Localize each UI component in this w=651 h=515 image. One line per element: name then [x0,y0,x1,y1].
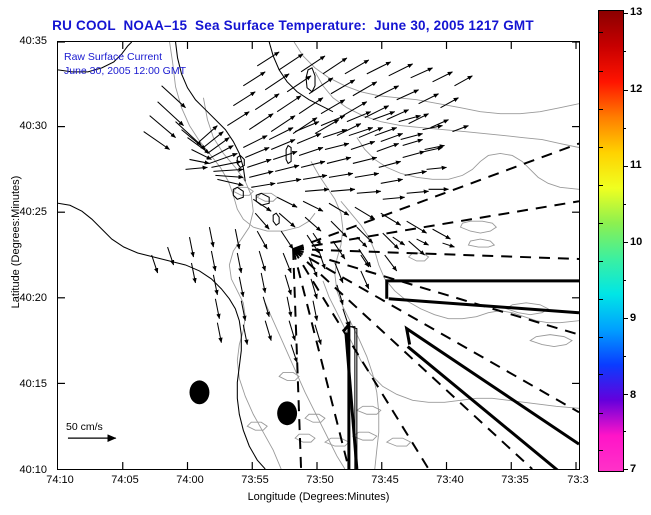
axis-tick-marks [58,42,579,469]
y-tick-label: 40:35 [19,35,47,47]
x-tick-label: 73:55 [241,474,269,486]
colorbar-tick-label: 11 [630,159,642,171]
radial-bearing-lines [293,144,579,469]
y-tick-label: 40:15 [19,378,47,390]
y-axis-ticks: 40:35 40:30 40:25 40:20 40:15 40:10 [0,0,53,515]
x-tick-label: 74:10 [46,474,74,486]
x-tick-label: 73:35 [501,474,529,486]
x-axis-title: Longitude (Degrees:Minutes) [57,491,580,503]
y-tick-label: 40:30 [19,120,47,132]
station-markers[interactable] [189,380,297,425]
x-tick-label: 73:45 [371,474,399,486]
station-marker[interactable] [277,401,297,425]
colorbar-tick-label: 8 [630,389,636,401]
sst-contour-lines [170,42,579,469]
map-plot-area[interactable]: Raw Surface CurrentJune 30, 2005 12:00 G… [57,41,580,470]
page-title: RU COOL NOAA–15 Sea Surface Temperature:… [0,18,586,33]
y-tick-label: 40:20 [19,292,47,304]
map-canvas [58,42,579,469]
colorbar-tick-label: 7 [630,463,636,475]
colorbar-tick-label: 13 [630,6,642,18]
figure-root: RU COOL NOAA–15 Sea Surface Temperature:… [0,0,651,515]
colorbar-gradient [599,11,623,471]
y-tick-label: 40:10 [19,464,47,476]
x-tick-label: 73:40 [436,474,464,486]
colorbar-tick-label: 10 [630,236,642,248]
station-marker[interactable] [189,380,209,404]
x-tick-label: 74:05 [111,474,139,486]
x-tick-label: 74:00 [176,474,204,486]
colorbar[interactable] [598,10,624,472]
x-tick-label: 73:3 [567,474,588,486]
colorbar-tick-label: 12 [630,83,642,95]
scale-legend-label: 50 cm/s [66,421,103,433]
radar-beam-wedges [344,281,579,469]
colorbar-tick-label: 9 [630,312,636,324]
y-tick-label: 40:25 [19,206,47,218]
y-axis-title: Latitude (Degrees:Minutes) [10,142,22,342]
x-tick-label: 73:50 [306,474,334,486]
